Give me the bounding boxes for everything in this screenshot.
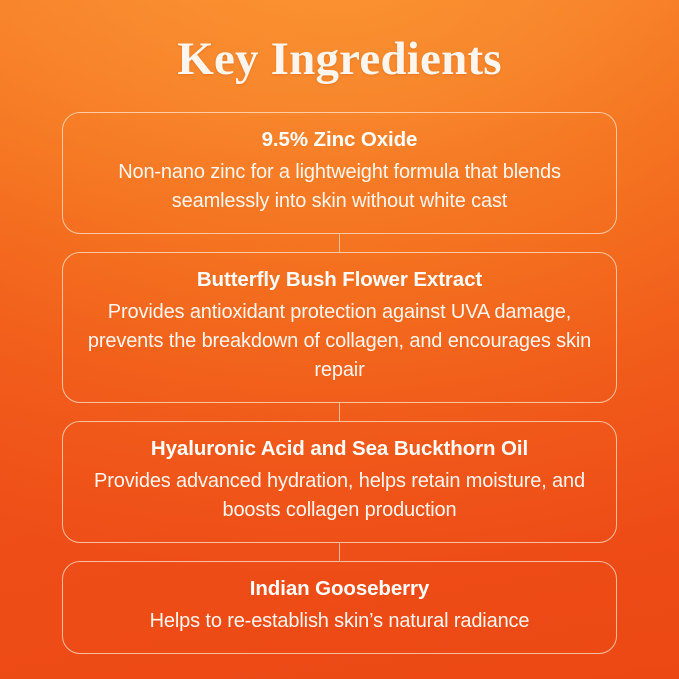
page-title: Key Ingredients (0, 34, 679, 85)
ingredient-card-description: Helps to re-establish skin’s natural rad… (87, 607, 592, 636)
ingredient-card-title: Butterfly Bush Flower Extract (87, 266, 592, 294)
key-ingredients-infographic: Key Ingredients 9.5% Zinc Oxide Non-nano… (0, 0, 679, 679)
ingredient-card-hyaluronic-acid-sea-buckthorn-oil: Hyaluronic Acid and Sea Buckthorn Oil Pr… (62, 421, 617, 543)
ingredient-card-butterfly-bush-flower-extract: Butterfly Bush Flower Extract Provides a… (62, 252, 617, 403)
ingredient-card-title: 9.5% Zinc Oxide (87, 126, 592, 154)
ingredient-card-list: 9.5% Zinc Oxide Non-nano zinc for a ligh… (62, 112, 617, 654)
ingredient-card-description: Provides advanced hydration, helps retai… (87, 467, 592, 525)
ingredient-card-title: Hyaluronic Acid and Sea Buckthorn Oil (87, 435, 592, 463)
card-connector-line (339, 403, 340, 421)
ingredient-card-description: Non-nano zinc for a lightweight formula … (87, 158, 592, 216)
card-connector-line (339, 543, 340, 561)
ingredient-card-zinc-oxide: 9.5% Zinc Oxide Non-nano zinc for a ligh… (62, 112, 617, 234)
card-connector-line (339, 234, 340, 252)
ingredient-card-indian-gooseberry: Indian Gooseberry Helps to re-establish … (62, 561, 617, 654)
ingredient-card-title: Indian Gooseberry (87, 575, 592, 603)
ingredient-card-description: Provides antioxidant protection against … (87, 298, 592, 386)
